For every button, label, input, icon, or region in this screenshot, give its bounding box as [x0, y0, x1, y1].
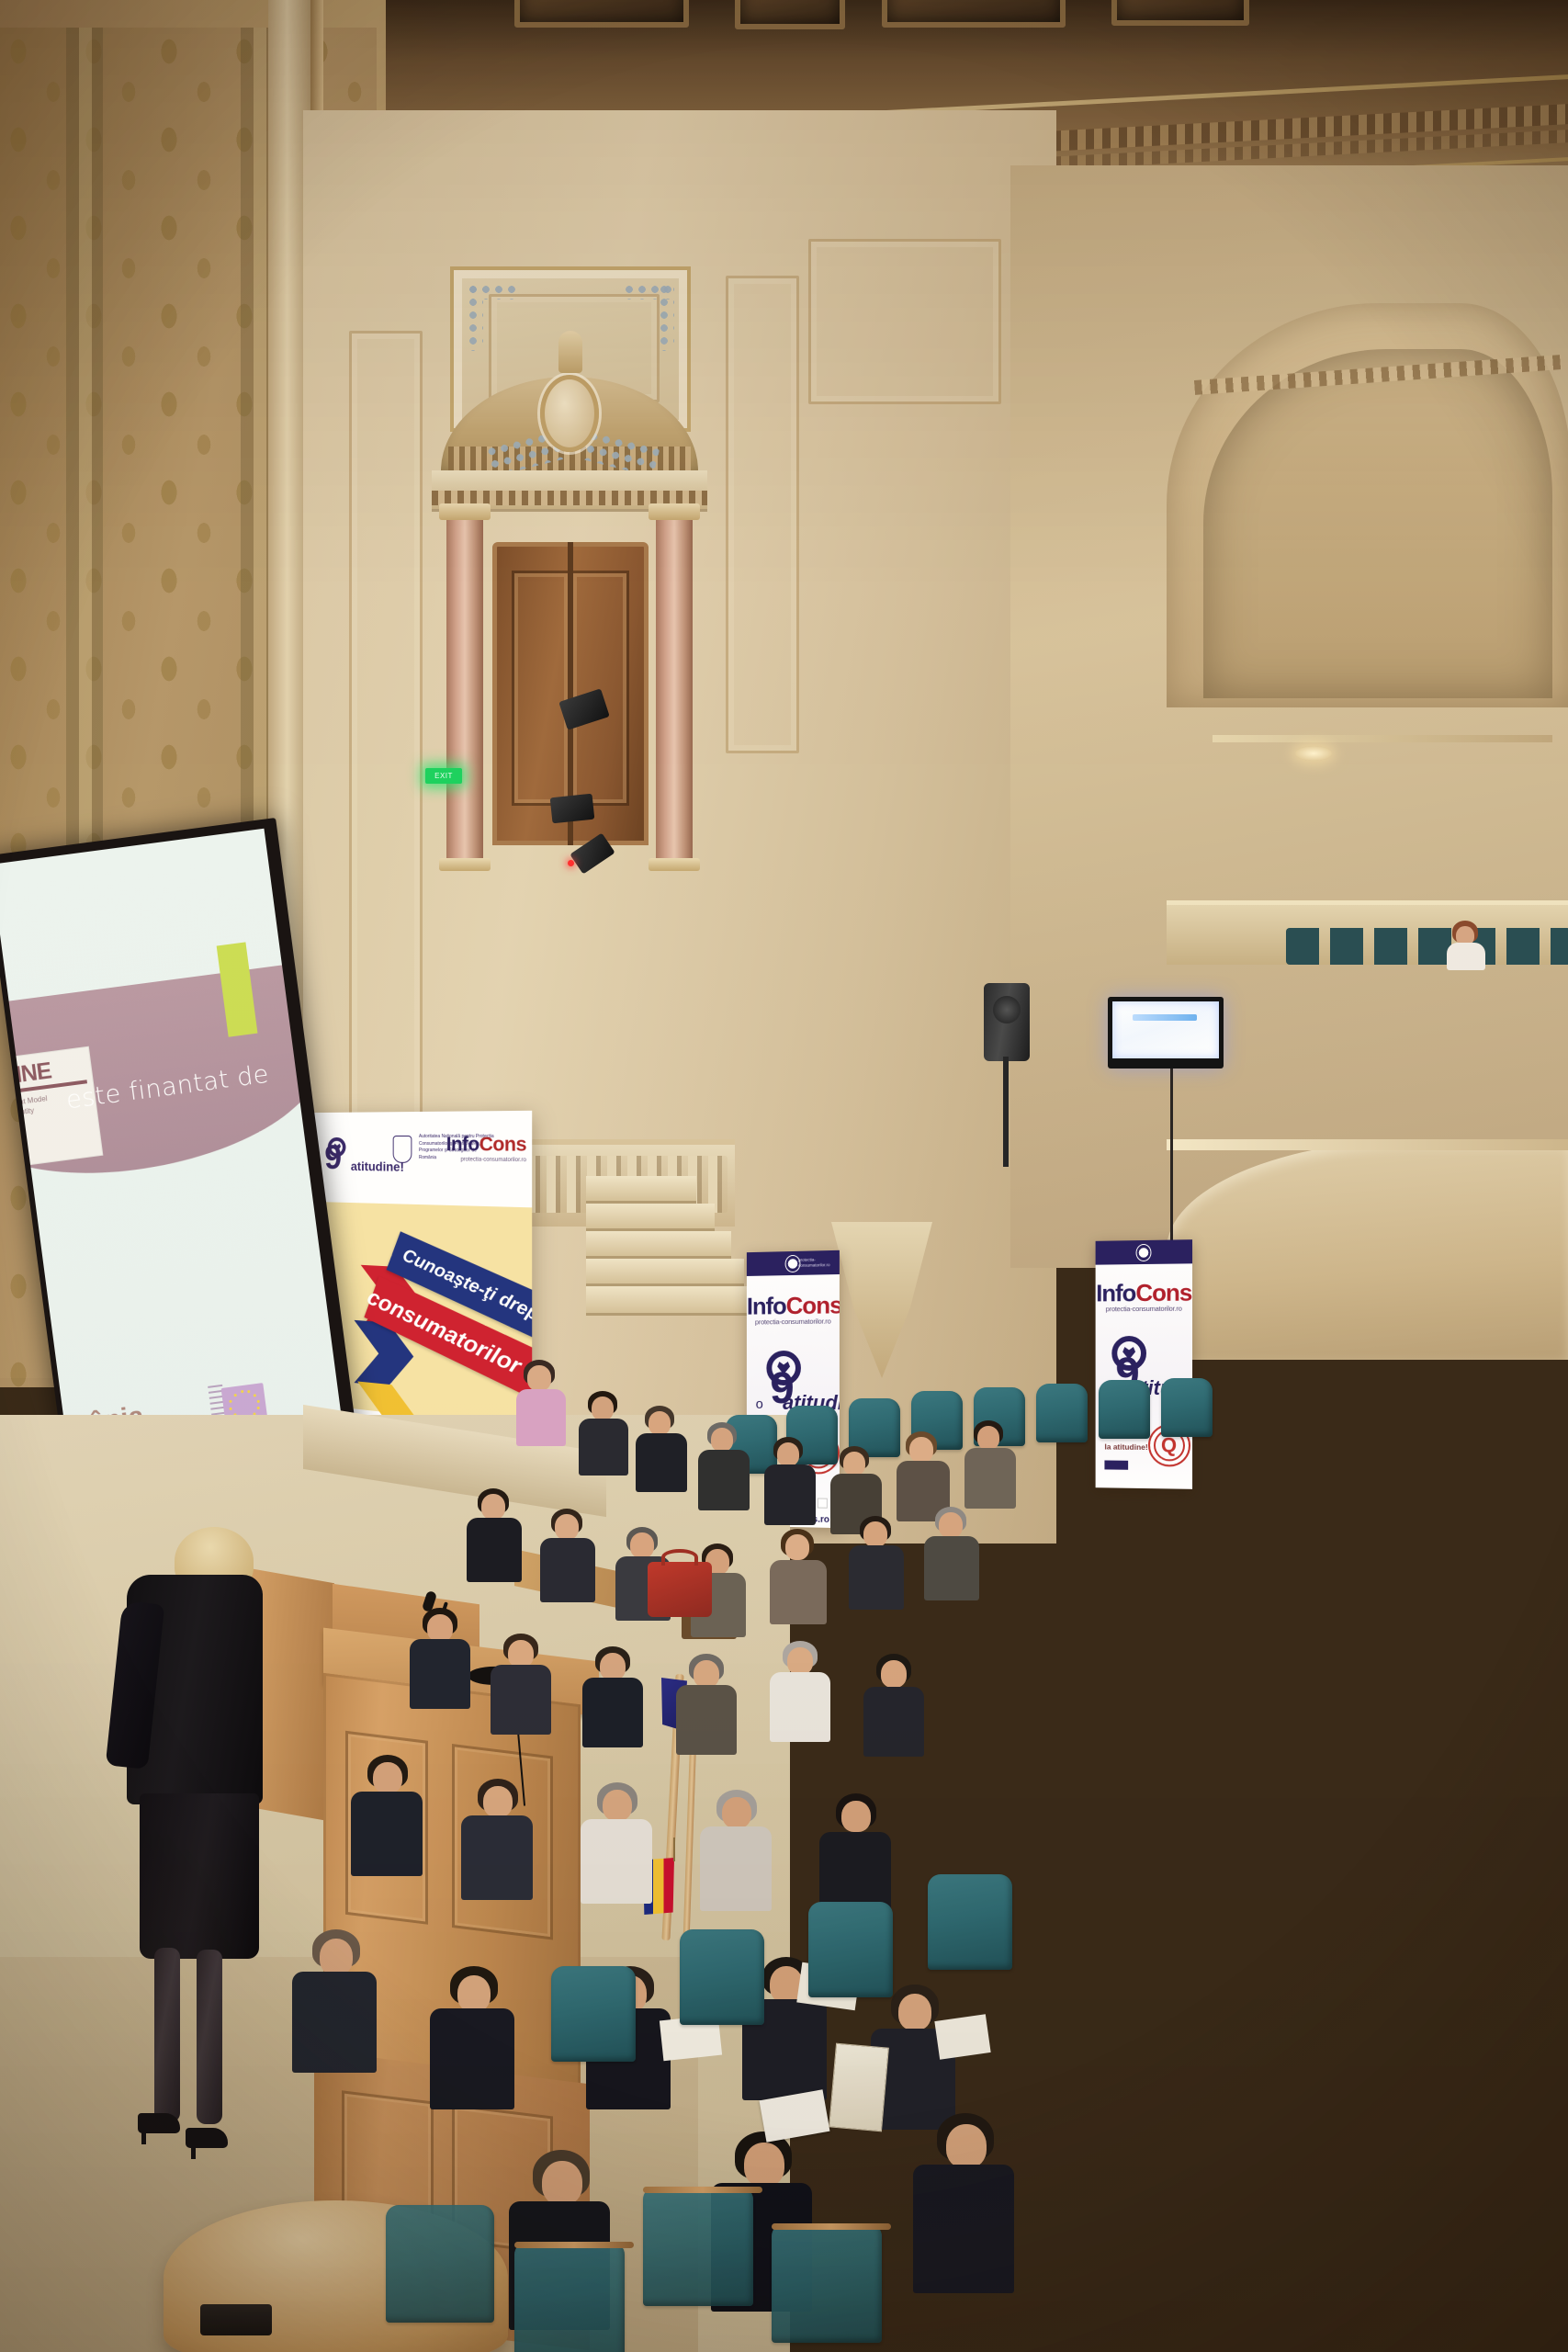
handout-paper: [934, 2014, 990, 2059]
presenter-heel-right: [191, 2139, 196, 2159]
audience-area: [698, 1378, 1568, 2352]
presenter-woman: [118, 1518, 320, 2152]
flag-pin: [673, 1837, 675, 1861]
column-capital-right: [649, 503, 700, 520]
balcony-attendee: [1447, 921, 1485, 968]
seat[interactable]: [514, 2242, 625, 2352]
exit-sign: EXIT: [425, 768, 462, 784]
presenter-heel-left: [141, 2124, 146, 2144]
device-on-table: [200, 2304, 272, 2335]
ceremonial-doorway[interactable]: [432, 266, 707, 1194]
spotlight-indicator-led: [568, 860, 574, 866]
arch-cornice: [1213, 735, 1552, 742]
seat[interactable]: [551, 1966, 636, 2062]
seat[interactable]: [772, 2223, 882, 2343]
stage-spotlight: [550, 794, 595, 824]
presenter-skirt: [140, 1793, 259, 1959]
certificate-document: [829, 2043, 889, 2132]
wall-panel: [808, 239, 1001, 404]
upper-arch-inner: [1203, 349, 1552, 698]
column-capital-left: [439, 503, 491, 520]
red-handbag: [648, 1562, 712, 1617]
banner-brand: InfoCons: [446, 1134, 526, 1157]
wall-monitor[interactable]: [1108, 997, 1224, 1069]
rollup-brand-sub: protectia-consumatorilor.ro: [1096, 1305, 1192, 1314]
column-base-left: [439, 858, 491, 871]
seat[interactable]: [680, 1929, 764, 2025]
seat[interactable]: [643, 2187, 753, 2306]
balcony-seat-row: [1286, 928, 1568, 965]
speaking-podium[interactable]: [323, 1645, 599, 2196]
ministry-crest-icon: [393, 1136, 412, 1163]
marble-column-left: [446, 513, 483, 862]
rollup-brand-sub: protectia-consumatorilor.ro: [747, 1317, 840, 1326]
pa-speaker: [984, 983, 1030, 1061]
conference-hall-photo: EXIT o 9 a: [0, 0, 1568, 2352]
armrest: [514, 2242, 634, 2248]
balcony-uplight: [1295, 746, 1332, 761]
seat[interactable]: [808, 1902, 893, 1997]
speaker-stand: [1003, 1057, 1009, 1167]
banner-brand-sub: protectia-consumatorilor.ro: [460, 1157, 526, 1163]
wall-panel: [726, 276, 799, 753]
seat[interactable]: [386, 2205, 494, 2323]
armrest: [643, 2187, 762, 2193]
rollup-brand: InfoCons: [1096, 1278, 1192, 1307]
rollup-header-text: protectia-consumatorilor.ro: [798, 1257, 840, 1269]
armrest: [772, 2223, 891, 2230]
column-base-right: [649, 858, 700, 871]
crest-icon: [1136, 1244, 1152, 1261]
cartouche-ornament: [540, 375, 599, 452]
handbag-handle: [661, 1549, 698, 1566]
exit-sign-label: EXIT: [434, 773, 453, 780]
monitor-screen: [1112, 1001, 1219, 1058]
wall-panel: [349, 331, 423, 1158]
gallery-edge-highlight: [1167, 1139, 1568, 1150]
stage-stairs[interactable]: [586, 1176, 751, 1351]
monitor-cable: [1170, 1069, 1173, 1243]
seat[interactable]: [928, 1874, 1012, 1970]
marble-column-right: [656, 513, 693, 862]
presenter-leg-left: [154, 1948, 180, 2122]
presenter-leg-right: [197, 1950, 222, 2124]
finial-ornament: [558, 331, 582, 373]
